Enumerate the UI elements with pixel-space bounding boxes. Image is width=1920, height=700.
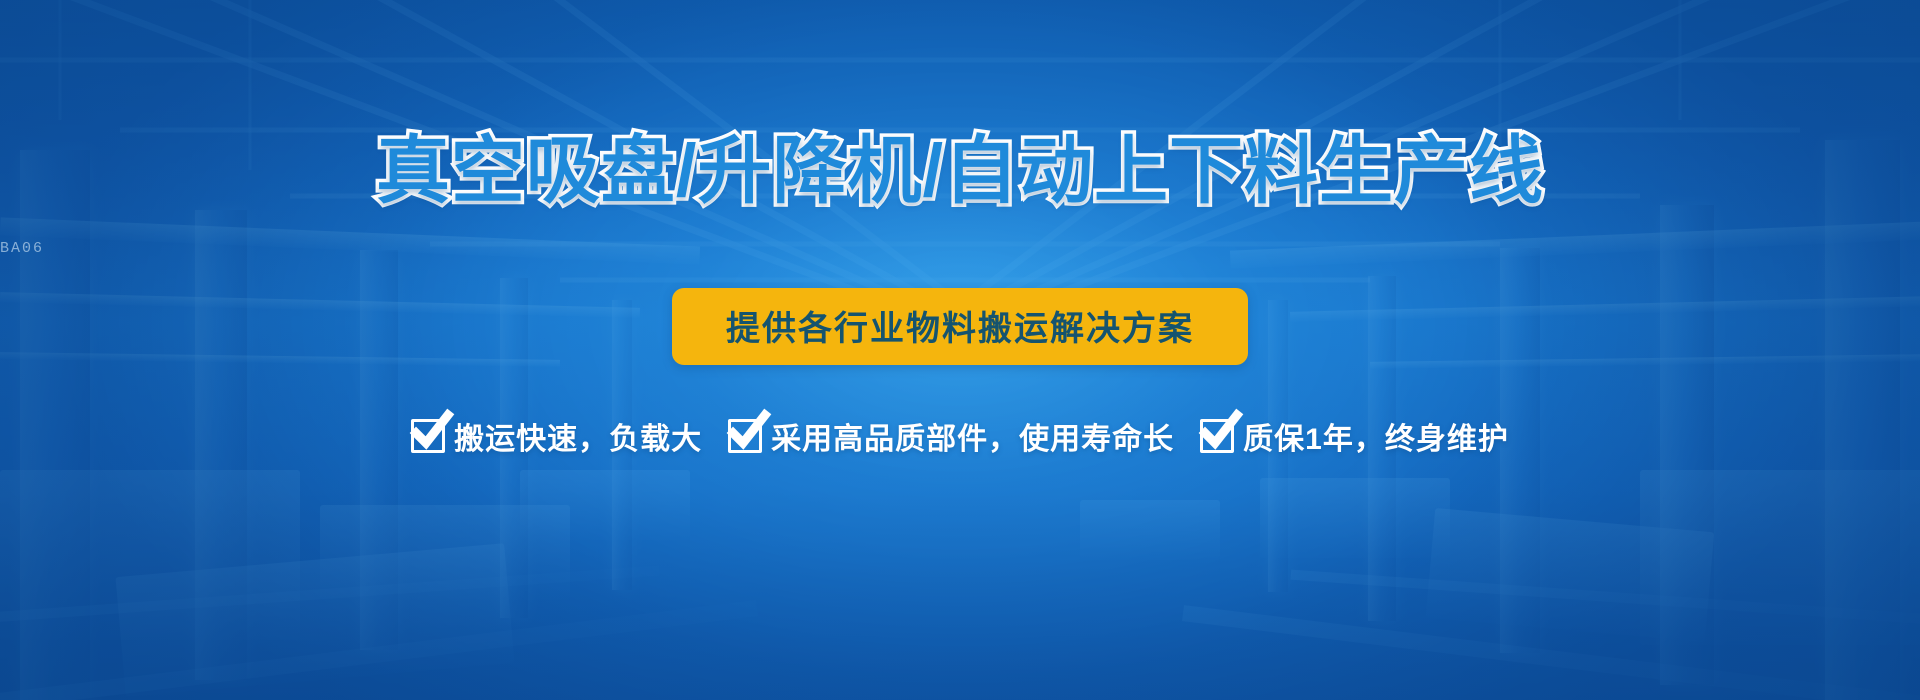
banner-title: 真空吸盘/升降机/自动上下料生产线 xyxy=(0,131,1920,211)
feature-list: 搬运快速，负载大 采用高品质部件，使用寿命长 质保1年，终身维护 xyxy=(0,414,1920,458)
check-square-icon xyxy=(728,419,762,453)
feature-item: 搬运快速，负载大 xyxy=(411,414,702,458)
feature-label: 质保1年，终身维护 xyxy=(1243,414,1509,458)
banner-subtitle-badge: 提供各行业物料搬运解决方案 xyxy=(672,288,1248,365)
banner-content: 真空吸盘/升降机/自动上下料生产线 提供各行业物料搬运解决方案 搬运快速，负载大 xyxy=(0,0,1920,700)
feature-item: 质保1年，终身维护 xyxy=(1200,414,1509,458)
feature-item: 采用高品质部件，使用寿命长 xyxy=(728,414,1174,458)
feature-label: 搬运快速，负载大 xyxy=(454,414,702,458)
promo-banner: BA06 真空吸盘/升降机/自动上下料生产线 提供各行业物料搬运解决方案 搬运快… xyxy=(0,0,1920,700)
feature-label: 采用高品质部件，使用寿命长 xyxy=(771,414,1174,458)
check-square-icon xyxy=(411,419,445,453)
banner-subtitle-wrap: 提供各行业物料搬运解决方案 xyxy=(0,288,1920,365)
check-square-icon xyxy=(1200,419,1234,453)
